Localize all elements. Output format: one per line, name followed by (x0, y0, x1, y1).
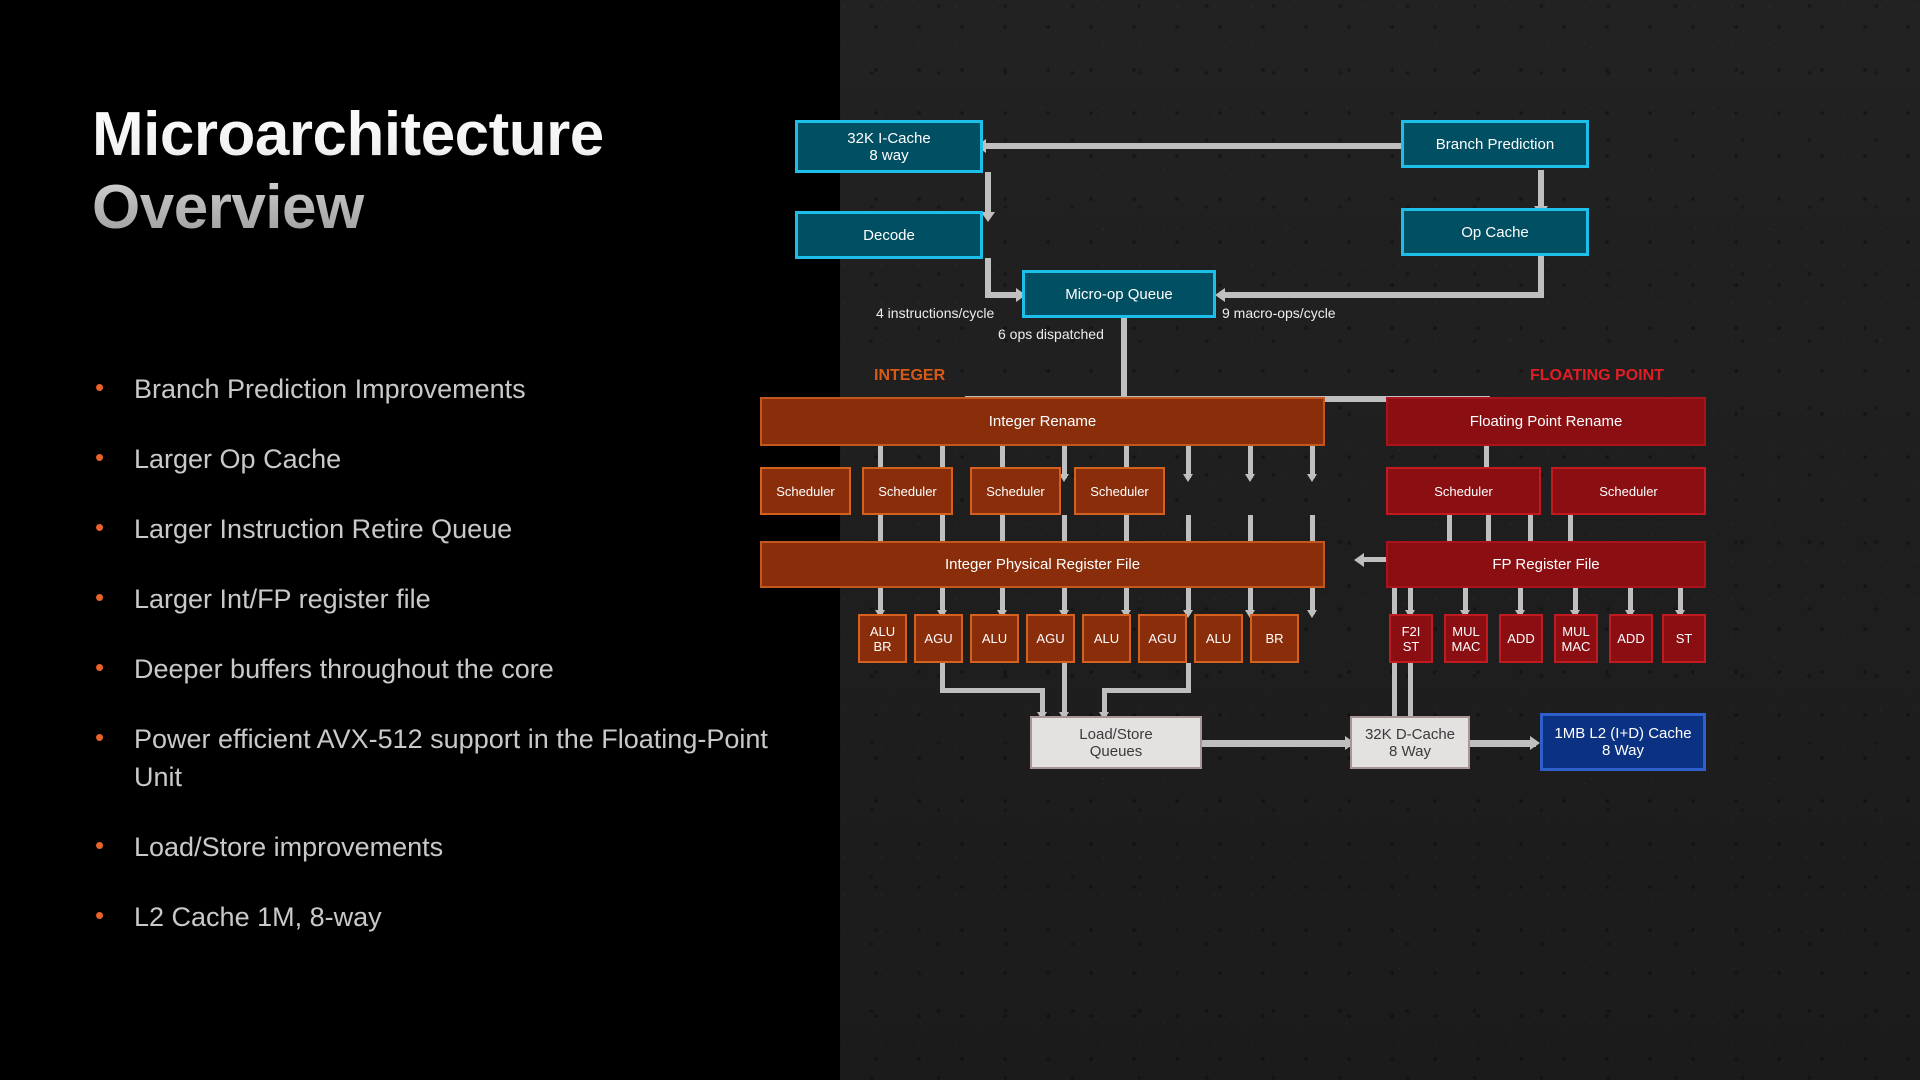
arrowhead-int-rename-sch-8 (1307, 474, 1317, 482)
block-fp-rf-label: FP Register File (1492, 556, 1599, 573)
block-dcache-line2: 8 Way (1389, 743, 1431, 760)
block-int-exec-8-line1: BR (1265, 631, 1283, 646)
block-int-exec-6-line1: AGU (1148, 631, 1176, 646)
connector-lsq-to-dcache (1202, 740, 1350, 747)
arrowhead-int-rename-sch-7 (1245, 474, 1255, 482)
block-int-exec-alu-3[interactable]: ALU (1082, 614, 1131, 663)
label-macro-ops-per-cycle: 9 macro-ops/cycle (1222, 305, 1336, 321)
feature-bullet-list: • Branch Prediction Improvements • Large… (92, 370, 782, 936)
list-item: • Larger Instruction Retire Queue (92, 510, 782, 548)
block-fp-scheduler-1-label: Scheduler (1434, 484, 1493, 499)
bullet-dot-icon: • (92, 440, 134, 474)
block-integer-scheduler-1[interactable]: Scheduler (760, 467, 851, 515)
block-integer-physical-register-file[interactable]: Integer Physical Register File (760, 541, 1325, 588)
block-int-exec-1-line1: ALU (870, 624, 895, 639)
block-fp-exec-mul-mac-1[interactable]: MUL MAC (1444, 614, 1488, 663)
arrowhead-l2-side (1530, 736, 1540, 750)
block-int-exec-agu-1[interactable]: AGU (914, 614, 963, 663)
block-int-exec-alu-br[interactable]: ALU BR (858, 614, 907, 663)
block-icache-line2: 8 way (869, 147, 908, 164)
block-integer-prf-label: Integer Physical Register File (945, 556, 1140, 573)
bullet-text: Larger Op Cache (134, 440, 341, 478)
block-microop-queue-label: Micro-op Queue (1065, 286, 1173, 303)
block-fp-scheduler-1[interactable]: Scheduler (1386, 467, 1541, 515)
label-instructions-per-cycle: 4 instructions/cycle (876, 305, 994, 321)
block-int-exec-agu-3[interactable]: AGU (1138, 614, 1187, 663)
list-item: • Branch Prediction Improvements (92, 370, 782, 408)
arrowhead-int-prf-bus (1354, 553, 1364, 567)
block-op-cache[interactable]: Op Cache (1401, 208, 1589, 256)
list-item: • Deeper buffers throughout the core (92, 650, 782, 688)
bullet-text: Deeper buffers throughout the core (134, 650, 554, 688)
block-fp-exec-add-2[interactable]: ADD (1609, 614, 1653, 663)
block-int-exec-alu-4[interactable]: ALU (1194, 614, 1243, 663)
block-decode-label: Decode (863, 227, 915, 244)
block-integer-scheduler-2[interactable]: Scheduler (862, 467, 953, 515)
block-load-store-queues[interactable]: Load/Store Queues (1030, 716, 1202, 769)
bullet-dot-icon: • (92, 370, 134, 404)
connector-agu1-right (940, 688, 1045, 693)
section-label-floating-point: FLOATING POINT (1530, 367, 1664, 385)
block-int-exec-3-line1: ALU (982, 631, 1007, 646)
block-fp-exec-f2i-st[interactable]: F2I ST (1389, 614, 1433, 663)
arrowhead-opcache-to-uopq (1215, 288, 1225, 302)
block-int-exec-agu-2[interactable]: AGU (1026, 614, 1075, 663)
block-fp-exec-st[interactable]: ST (1662, 614, 1706, 663)
block-decode[interactable]: Decode (795, 211, 983, 259)
bullet-dot-icon: • (92, 580, 134, 614)
arrowhead-int-rename-sch-6 (1183, 474, 1193, 482)
block-icache[interactable]: 32K I-Cache 8 way (795, 120, 983, 173)
bullet-text: Branch Prediction Improvements (134, 370, 526, 408)
block-int-exec-br[interactable]: BR (1250, 614, 1299, 663)
bullet-dot-icon: • (92, 510, 134, 544)
left-content-panel: Microarchitecture Overview • Branch Pred… (0, 0, 840, 1080)
connector-agu3-left (1102, 688, 1191, 693)
connector-bp-to-opcache (1538, 170, 1544, 210)
block-fp-exec-add-1[interactable]: ADD (1499, 614, 1543, 663)
block-integer-scheduler-3[interactable]: Scheduler (970, 467, 1061, 515)
block-fp-exec-4-line2: MAC (1562, 639, 1591, 654)
block-microop-queue[interactable]: Micro-op Queue (1022, 270, 1216, 318)
block-l2-cache[interactable]: 1MB L2 (I+D) Cache 8 Way (1540, 713, 1706, 771)
bullet-dot-icon: • (92, 828, 134, 862)
block-integer-rename-label: Integer Rename (989, 413, 1097, 430)
block-int-exec-alu-2[interactable]: ALU (970, 614, 1019, 663)
block-lsq-line1: Load/Store (1079, 726, 1152, 743)
block-int-exec-1-line2: BR (873, 639, 891, 654)
block-int-exec-2-line1: AGU (924, 631, 952, 646)
bullet-text: Larger Instruction Retire Queue (134, 510, 512, 548)
block-branch-prediction-label: Branch Prediction (1436, 136, 1554, 153)
connector-agu2-to-lsq (1062, 663, 1067, 716)
microarchitecture-diagram-panel: 32K I-Cache 8 way Decode Branch Predicti… (840, 0, 1920, 1080)
block-lsq-line2: Queues (1090, 743, 1143, 760)
bullet-dot-icon: • (92, 720, 134, 754)
list-item: • Power efficient AVX-512 support in the… (92, 720, 782, 796)
block-fp-scheduler-2-label: Scheduler (1599, 484, 1658, 499)
block-icache-line1: 32K I-Cache (847, 130, 930, 147)
arrowhead-int-prf-exec-8 (1307, 610, 1317, 618)
block-diagram: 32K I-Cache 8 way Decode Branch Predicti… (840, 0, 1920, 1080)
block-fp-register-file[interactable]: FP Register File (1386, 541, 1706, 588)
list-item: • Load/Store improvements (92, 828, 782, 866)
block-integer-scheduler-4-label: Scheduler (1090, 484, 1149, 499)
block-fp-exec-6-line1: ST (1676, 631, 1693, 646)
page-title: Microarchitecture Overview (92, 98, 792, 244)
list-item: • Larger Op Cache (92, 440, 782, 478)
block-l2-line1: 1MB L2 (I+D) Cache (1554, 725, 1691, 742)
bullet-dot-icon: • (92, 898, 134, 932)
block-l2-line2: 8 Way (1602, 742, 1644, 759)
block-integer-scheduler-2-label: Scheduler (878, 484, 937, 499)
block-fp-exec-2-line1: MUL (1452, 624, 1479, 639)
connector-uopq-down (1121, 318, 1127, 402)
block-fp-exec-1-line1: F2I (1402, 624, 1421, 639)
slide-root: Microarchitecture Overview • Branch Pred… (0, 0, 1920, 1080)
list-item: • Larger Int/FP register file (92, 580, 782, 618)
block-dcache[interactable]: 32K D-Cache 8 Way (1350, 716, 1470, 769)
label-ops-dispatched: 6 ops dispatched (998, 326, 1104, 342)
connector-dcache-to-l2 (1470, 740, 1536, 747)
block-fp-exec-2-line2: MAC (1452, 639, 1481, 654)
bullet-text: Power efficient AVX-512 support in the F… (134, 720, 782, 796)
bullet-text: Larger Int/FP register file (134, 580, 431, 618)
bullet-text: Load/Store improvements (134, 828, 443, 866)
block-fp-exec-4-line1: MUL (1562, 624, 1589, 639)
block-fp-rename[interactable]: Floating Point Rename (1386, 397, 1706, 446)
bullet-dot-icon: • (92, 650, 134, 684)
block-op-cache-label: Op Cache (1461, 224, 1529, 241)
block-integer-scheduler-4[interactable]: Scheduler (1074, 467, 1165, 515)
block-fp-rename-label: Floating Point Rename (1470, 413, 1623, 430)
block-int-exec-5-line1: ALU (1094, 631, 1119, 646)
bullet-text: L2 Cache 1M, 8-way (134, 898, 382, 936)
block-fp-exec-5-line1: ADD (1617, 631, 1644, 646)
block-integer-rename[interactable]: Integer Rename (760, 397, 1325, 446)
connector-opcache-left (1225, 292, 1544, 298)
block-fp-exec-3-line1: ADD (1507, 631, 1534, 646)
block-fp-exec-1-line2: ST (1403, 639, 1420, 654)
arrowhead-icache-to-decode (981, 212, 995, 222)
list-item: • L2 Cache 1M, 8-way (92, 898, 782, 936)
block-fp-scheduler-2[interactable]: Scheduler (1551, 467, 1706, 515)
block-fp-exec-mul-mac-2[interactable]: MUL MAC (1554, 614, 1598, 663)
block-integer-scheduler-3-label: Scheduler (986, 484, 1045, 499)
connector-icache-to-decode (985, 172, 991, 216)
connector-decode-down (985, 258, 991, 296)
block-int-exec-4-line1: AGU (1036, 631, 1064, 646)
block-dcache-line1: 32K D-Cache (1365, 726, 1455, 743)
connector-opcache-down (1538, 255, 1544, 296)
block-int-exec-7-line1: ALU (1206, 631, 1231, 646)
section-label-integer: INTEGER (874, 367, 945, 385)
block-branch-prediction[interactable]: Branch Prediction (1401, 120, 1589, 168)
block-integer-scheduler-1-label: Scheduler (776, 484, 835, 499)
